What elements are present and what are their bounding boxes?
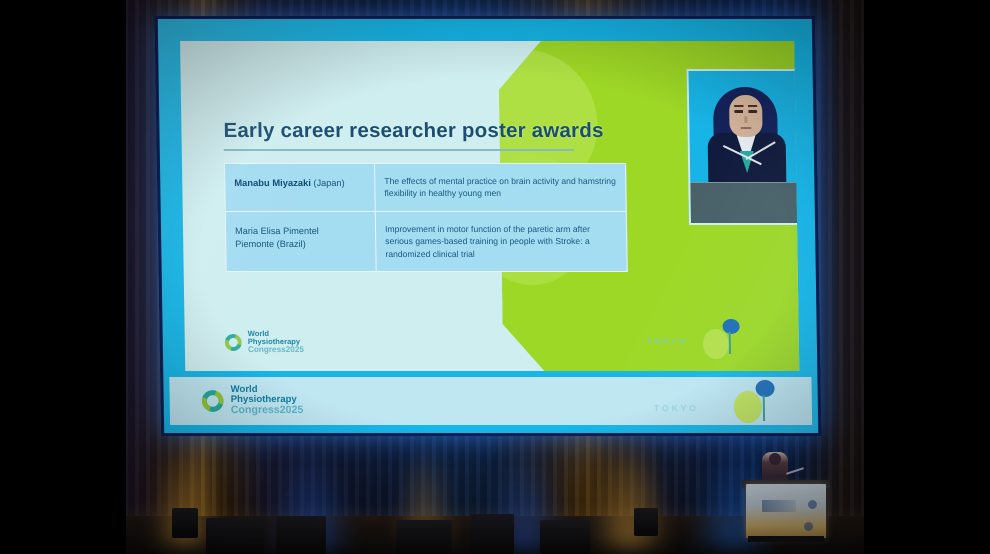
title-underline <box>224 149 574 150</box>
tokyo-label: TOKYO <box>647 337 688 346</box>
lectern <box>740 476 832 542</box>
lectern-base <box>748 536 824 542</box>
logo-congress-text: Congress <box>248 345 286 354</box>
logo-congress-text: Congress <box>231 404 280 416</box>
screen-surface: Early career researcher poster awards Ma… <box>158 19 819 433</box>
winner-country: Piemonte (Brazil) <box>235 239 306 249</box>
stage-equipment-box <box>470 514 514 554</box>
table-row: Manabu Miyazaki (Japan) The effects of m… <box>225 164 626 212</box>
banner-logo-wordmark: World Physiotherapy Congress2025 <box>230 385 303 416</box>
logo-line-congress: Congress2025 <box>231 405 304 416</box>
lectern-graphic-dot <box>804 522 813 531</box>
slide-title: Early career researcher poster awards <box>223 119 603 143</box>
lectern-surface <box>690 183 799 223</box>
stage-equipment-box <box>276 516 326 554</box>
green-balloon-icon <box>703 329 729 359</box>
world-physiotherapy-swirl-icon <box>202 390 224 412</box>
logo-year: 2025 <box>280 404 304 416</box>
table-row: Maria Elisa Pimentel Piemonte (Brazil) I… <box>226 212 627 271</box>
world-physiotherapy-swirl-icon <box>225 334 242 351</box>
banner-tokyo-mark: TOKYO <box>647 379 798 425</box>
tokyo-label: TOKYO <box>654 403 699 413</box>
projection-screen: Early career researcher poster awards Ma… <box>155 16 822 436</box>
speaker-eyes <box>734 110 757 113</box>
lectern-front-panel <box>746 484 826 538</box>
letterbox-left <box>0 0 126 554</box>
stage-equipment-box <box>206 518 264 554</box>
winner-name-cell: Maria Elisa Pimentel Piemonte (Brazil) <box>226 212 377 271</box>
auditorium-scene: Early career researcher poster awards Ma… <box>0 0 990 554</box>
winner-name-cell: Manabu Miyazaki (Japan) <box>225 164 376 211</box>
award-winners-table: Manabu Miyazaki (Japan) The effects of m… <box>224 163 628 272</box>
winner-abstract-cell: The effects of mental practice on brain … <box>375 164 626 211</box>
logo-line-congress: Congress2025 <box>248 346 304 355</box>
logo-wordmark: World Physiotherapy Congress2025 <box>248 330 304 355</box>
stage-equipment-box <box>634 508 658 536</box>
winner-name: Maria Elisa Pimentel <box>235 226 319 236</box>
lectern-logo <box>762 500 796 512</box>
winner-abstract-cell: Improvement in motor function of the par… <box>376 212 627 271</box>
lectern-graphic-dot <box>808 500 817 509</box>
speaker-mouth <box>740 127 751 129</box>
stage-equipment-box <box>540 520 590 554</box>
letterbox-right <box>864 0 990 554</box>
speaker-nose <box>744 116 747 123</box>
speaker-video-inset <box>687 69 800 225</box>
winner-name: Manabu Miyazaki <box>234 177 311 188</box>
slide-tokyo-mark: TOKYO <box>646 317 767 361</box>
stage-equipment-box <box>396 520 452 554</box>
slide-congress-logo: World Physiotherapy Congress2025 <box>225 330 304 355</box>
blue-flower-icon <box>722 319 739 334</box>
green-balloon-icon <box>734 391 763 423</box>
presentation-slide: Early career researcher poster awards Ma… <box>180 41 799 371</box>
speaker-brows <box>734 105 757 107</box>
stage-equipment-box <box>172 508 198 538</box>
winner-country: (Japan) <box>313 178 344 188</box>
lower-banner: World Physiotherapy Congress2025 TOKYO <box>169 377 812 425</box>
banner-congress-logo: World Physiotherapy Congress2025 <box>201 385 303 416</box>
logo-year: 2025 <box>286 345 304 354</box>
blue-flower-icon <box>755 380 774 397</box>
